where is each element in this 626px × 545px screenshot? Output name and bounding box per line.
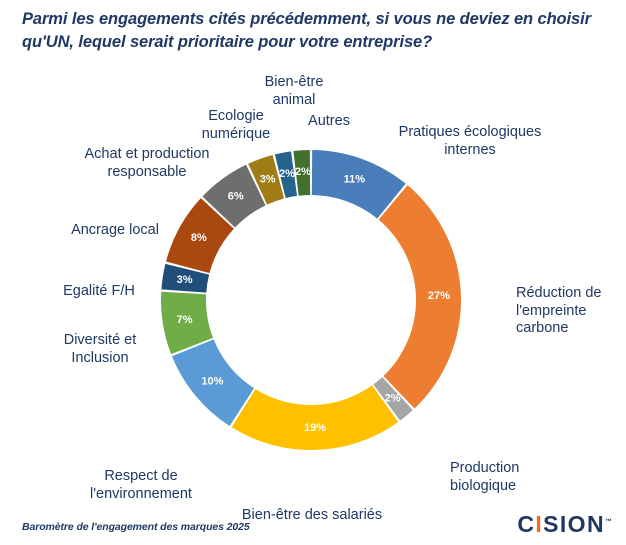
slice-percent-label: 7% (177, 314, 193, 326)
slice-percent-label: 8% (191, 232, 207, 244)
slice-category-label: Ecologie numérique (184, 108, 288, 143)
slice-percent-label: 11% (344, 173, 366, 185)
trademark-mark: ™ (605, 518, 612, 525)
slice-category-label: Production biologique (450, 460, 560, 495)
slice-category-label: Achat et production responsable (56, 146, 238, 181)
slice-percent-label: 2% (385, 393, 401, 405)
slice-category-label: Egalité F/H (50, 283, 148, 301)
slice-category-label: Bien-être des salariés (226, 507, 398, 525)
slice-category-label: Pratiques écologiques internes (382, 124, 558, 159)
slice-category-label: Diversité et Inclusion (44, 332, 156, 367)
slice-percent-label: 3% (260, 173, 276, 185)
slice-percent-label: 6% (228, 190, 244, 202)
donut-chart: 11%27%2%19%10%7%3%8%6%3%2%2% Pratiques é… (0, 0, 626, 545)
slice-category-label: Réduction de l'empreinte carbone (516, 285, 622, 338)
source-footnote: Baromètre de l'engagement des marques 20… (22, 521, 250, 533)
logo-text-before: C (517, 511, 535, 537)
slice-percent-label: 3% (177, 274, 193, 286)
slice-category-label: Autres (298, 113, 360, 131)
cision-logo: CISION™ (517, 511, 612, 538)
logo-text-after: SION (543, 511, 605, 537)
donut-slice[interactable] (232, 385, 399, 450)
slice-category-label: Bien-être animal (250, 74, 338, 109)
donut-slices (161, 150, 461, 450)
slice-percent-label: 2% (295, 166, 311, 178)
slice-percent-label: 19% (304, 422, 326, 434)
logo-text-highlight: I (535, 511, 543, 537)
slice-category-label: Ancrage local (54, 222, 176, 240)
slice-percent-label: 2% (279, 168, 295, 180)
slice-percent-label: 27% (428, 290, 450, 302)
slice-category-label: Respect de l'environnement (66, 468, 216, 503)
chart-page: Parmi les engagements cités précédemment… (0, 0, 626, 545)
slice-percent-label: 10% (201, 375, 223, 387)
